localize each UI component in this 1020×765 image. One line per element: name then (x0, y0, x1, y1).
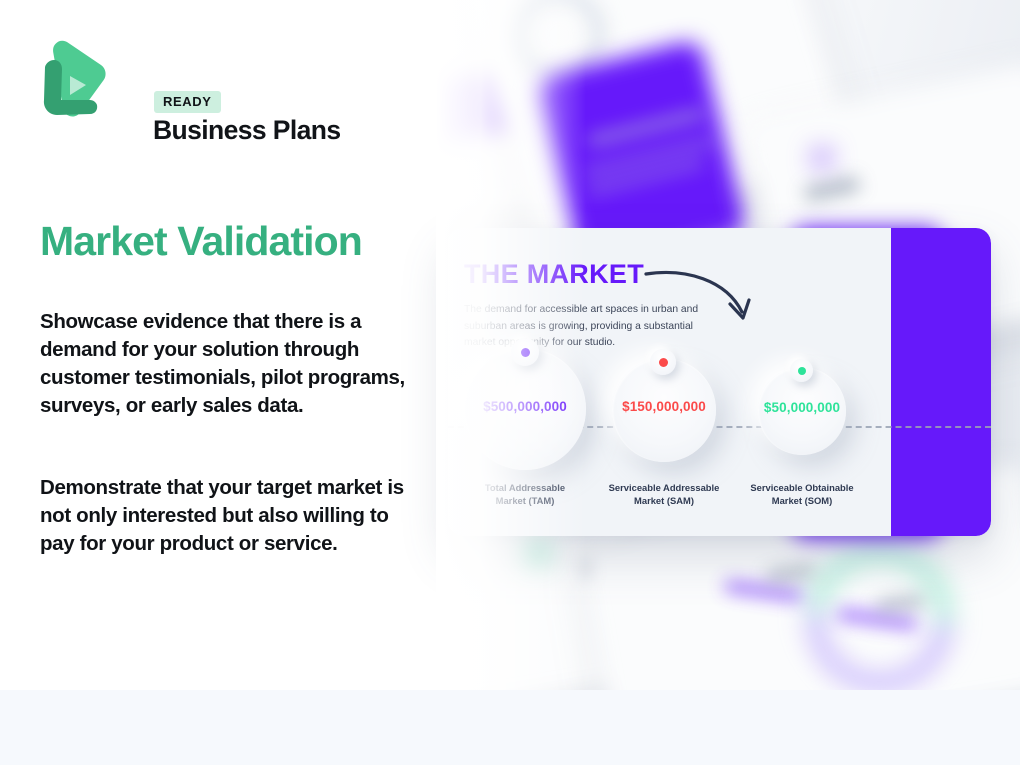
label-line-2: Market (SOM) (772, 495, 832, 506)
label-sam: Serviceable Addressable Market (SAM) (589, 482, 739, 507)
red-dot-icon (659, 358, 668, 367)
slide-page: THE MARKET The demand for accessible art… (0, 0, 1020, 765)
knob-som (790, 359, 813, 382)
brand-name: Business Plans (153, 115, 341, 146)
blurred-green-dot (524, 540, 548, 564)
blurred-purple-block (436, 64, 549, 165)
label-line-2: Market (SAM) (634, 495, 694, 506)
body-paragraph-2: Demonstrate that your target market is n… (40, 474, 418, 558)
label-line-1: Serviceable Addressable (609, 482, 720, 493)
play-triangles-logo-icon (40, 38, 108, 120)
label-line-1: Serviceable Obtainable (750, 482, 853, 493)
page-title: Market Validation (40, 218, 362, 265)
body-paragraph-1: Showcase evidence that there is a demand… (40, 308, 418, 420)
value-sam: $150,000,000 (612, 399, 716, 414)
ready-badge: READY (154, 91, 221, 113)
bottom-band (0, 690, 1020, 765)
label-som: Serviceable Obtainable Market (SOM) (727, 482, 877, 507)
brand-lockup: READY Business Plans (40, 38, 380, 124)
value-som: $50,000,000 (758, 400, 846, 415)
green-dot-icon (798, 367, 806, 375)
knob-sam (650, 349, 676, 375)
accent-panel (891, 228, 991, 536)
blurred-purple-dot (814, 150, 830, 166)
